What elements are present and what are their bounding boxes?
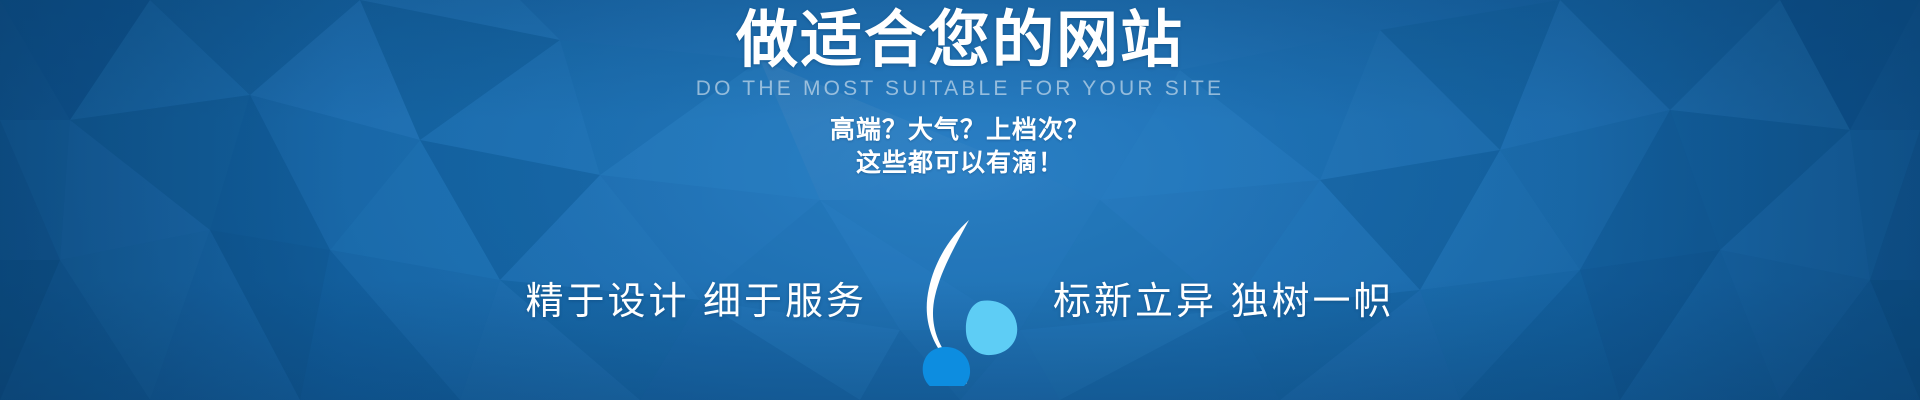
pitch-line-2: 这些都可以有滴！ (830, 147, 1090, 180)
banner-headline: 做适合您的网站 (736, 8, 1184, 73)
banner-content: 做适合您的网站 DO THE MOST SUITABLE FOR YOUR SI… (0, 0, 1920, 400)
pitch-line-1: 高端？大气？上档次？ (830, 114, 1090, 147)
banner-subtitle-english: DO THE MOST SUITABLE FOR YOUR SITE (696, 77, 1224, 100)
hero-banner: 做适合您的网站 DO THE MOST SUITABLE FOR YOUR SI… (0, 0, 1920, 400)
banner-pitch: 高端？大气？上档次？ 这些都可以有滴！ (830, 114, 1090, 180)
